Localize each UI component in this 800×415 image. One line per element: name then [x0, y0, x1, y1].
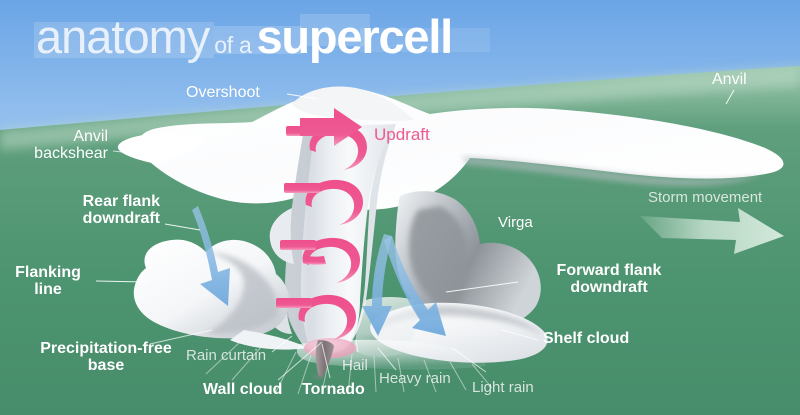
label-precip-free-line2: base: [18, 357, 194, 374]
label-heavy-rain: Heavy rain: [379, 371, 451, 387]
label-anvil-backshear: Anvil backshear: [0, 128, 108, 163]
label-anvil: Anvil: [712, 71, 747, 88]
label-flanking-line1: Flanking: [2, 264, 94, 281]
label-shelf-cloud: Shelf cloud: [543, 330, 629, 347]
title-word-supercell: supercell: [256, 9, 452, 64]
label-wall-cloud: Wall cloud: [203, 381, 282, 398]
label-forward-flank-downdraft: Forward flank downdraft: [524, 262, 694, 297]
label-overshoot: Overshoot: [186, 84, 260, 101]
page-title: anatomyof asupercell: [36, 9, 452, 65]
label-updraft: Updraft: [374, 126, 430, 144]
label-rain-curtain: Rain curtain: [186, 348, 266, 364]
label-precipitation-free-base: Precipitation-free base: [18, 340, 194, 375]
label-virga: Virga: [498, 215, 533, 231]
label-rear-flank-line2: downdraft: [0, 210, 160, 227]
label-anvil-backshear-line2: backshear: [0, 145, 108, 162]
label-rear-flank-line1: Rear flank: [0, 193, 160, 210]
label-flanking-line2: line: [2, 281, 94, 298]
label-forward-flank-line2: downdraft: [524, 279, 694, 296]
label-hail: Hail: [342, 358, 368, 374]
infographic-canvas: anatomyof asupercell Overshoot Anvil Anv…: [0, 0, 800, 415]
tornado-debris: [313, 375, 325, 380]
label-light-rain: Light rain: [472, 380, 534, 396]
title-word-of-a: of a: [209, 32, 256, 59]
label-rear-flank-downdraft: Rear flank downdraft: [0, 193, 160, 228]
label-precip-free-line1: Precipitation-free: [18, 340, 194, 357]
title-word-anatomy: anatomy: [36, 9, 209, 64]
label-storm-movement: Storm movement: [648, 190, 762, 206]
label-flanking-line: Flanking line: [2, 264, 94, 299]
label-tornado: Tornado: [302, 381, 365, 398]
label-anvil-backshear-line1: Anvil: [0, 128, 108, 145]
label-forward-flank-line1: Forward flank: [524, 262, 694, 279]
